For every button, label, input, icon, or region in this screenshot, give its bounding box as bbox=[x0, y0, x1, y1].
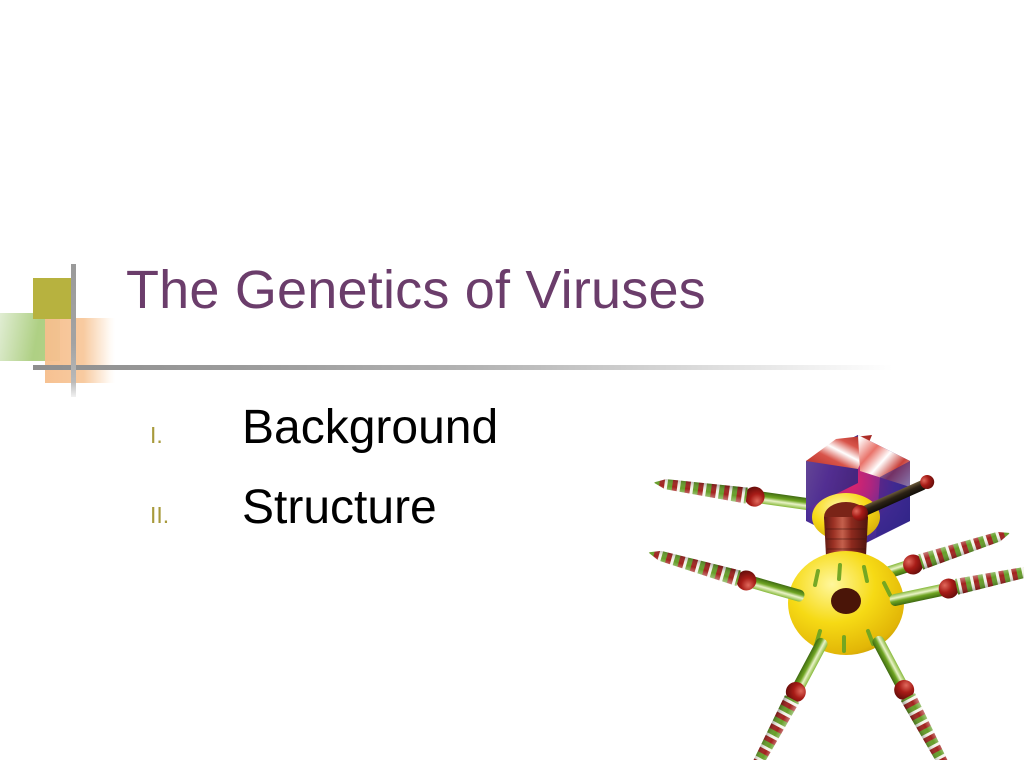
decorative-square-green bbox=[0, 313, 60, 361]
list-item: I. Background bbox=[150, 398, 670, 478]
horizontal-rule bbox=[33, 365, 893, 370]
list-item: II. Structure bbox=[150, 478, 670, 558]
slide-body-list: I. Background II. Structure bbox=[150, 398, 670, 558]
slide-title: The Genetics of Viruses bbox=[126, 262, 706, 319]
bacteriophage-illustration bbox=[628, 425, 1024, 760]
list-item-label: Background bbox=[242, 404, 498, 452]
decorative-square-olive bbox=[33, 278, 71, 319]
list-item-marker: II. bbox=[150, 478, 242, 527]
presentation-slide: The Genetics of Viruses I. Background II… bbox=[0, 0, 1024, 768]
list-item-marker: I. bbox=[150, 398, 242, 447]
decorative-square-orange bbox=[45, 318, 115, 383]
list-item-label: Structure bbox=[242, 484, 437, 532]
vertical-rule bbox=[71, 264, 76, 397]
